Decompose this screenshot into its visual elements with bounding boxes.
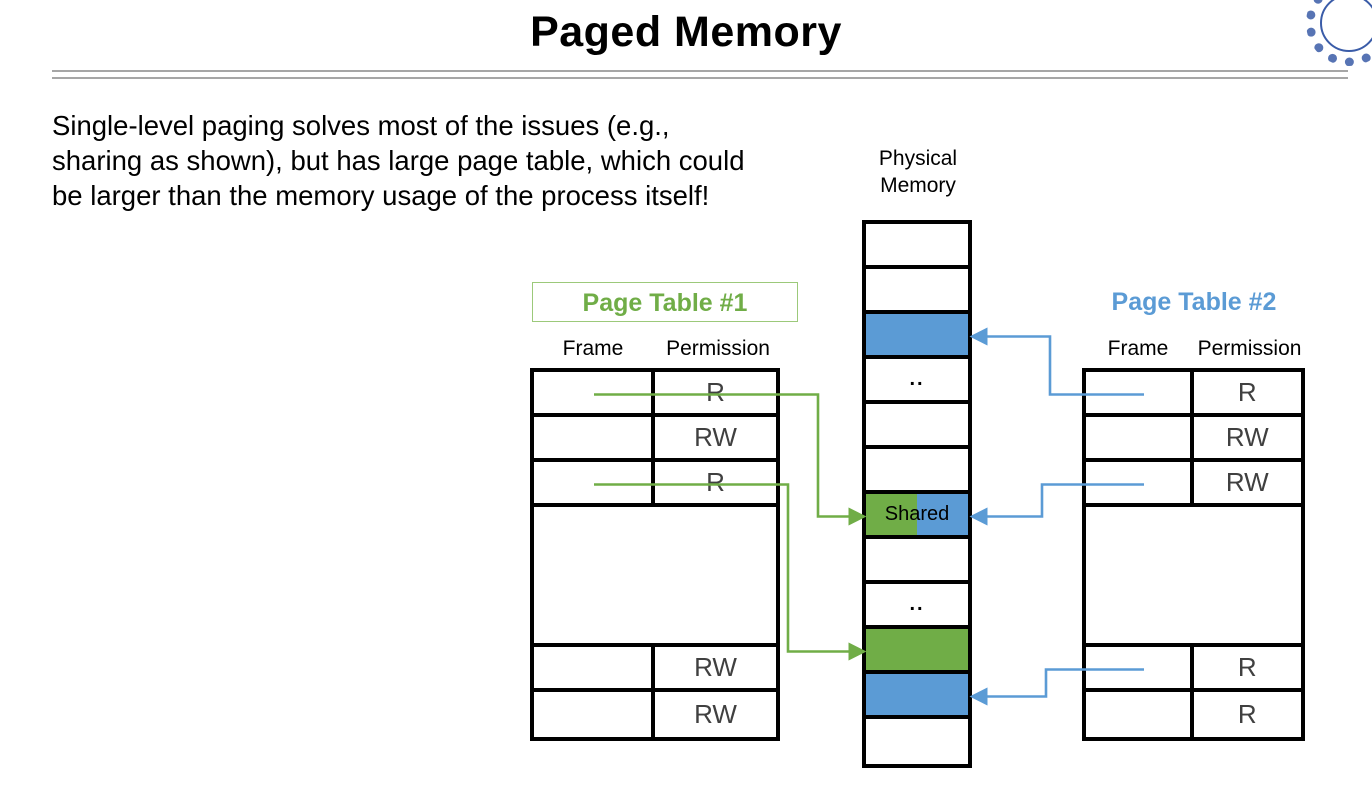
table-row: RW <box>534 692 776 737</box>
page-table-2-row-4-frame <box>1086 507 1194 643</box>
page-table-1-row-5-permission: RW <box>655 647 776 688</box>
page-table-1-col-permission: Permission <box>656 337 780 361</box>
page-table-2-row-6-frame <box>1086 692 1194 737</box>
memory-cell-4: .. <box>866 359 968 404</box>
body-paragraph: Single-level paging solves most of the i… <box>52 108 752 213</box>
page-table-2-row-1-frame <box>1086 372 1194 413</box>
page-table-2-row-2-frame <box>1086 417 1194 458</box>
page-table-2-row-3-permission: RW <box>1194 462 1302 503</box>
page-table-1-row-6-frame <box>534 692 655 737</box>
physical-memory-label: Physical Memory <box>862 145 974 199</box>
memory-cell-4-label: .. <box>909 368 924 391</box>
page-table-1: RRWRRWRW <box>530 368 780 741</box>
memory-cell-7: Shared <box>866 494 968 539</box>
table-row: RW <box>1086 462 1301 507</box>
memory-cell-6 <box>866 449 968 494</box>
page-table-1-row-3-frame <box>534 462 655 503</box>
page-table-2-row-5-frame <box>1086 647 1194 688</box>
physical-memory-column: ..Shared.. <box>862 220 972 768</box>
table-row <box>1086 507 1301 647</box>
page-table-1-title: Page Table #1 <box>532 282 798 322</box>
physical-memory-label-line1: Physical <box>862 145 974 172</box>
memory-cell-9-label: .. <box>909 593 924 616</box>
page-table-2-title: Page Table #2 <box>1082 282 1306 322</box>
table-row: R <box>534 462 776 507</box>
memory-cell-7-label: Shared <box>885 503 950 526</box>
title-divider <box>52 70 1348 79</box>
page-table-1-row-4-frame <box>534 507 655 643</box>
page-table-2-row-1-permission: R <box>1194 372 1302 413</box>
memory-cell-5 <box>866 404 968 449</box>
page-table-1-row-3-permission: R <box>655 462 776 503</box>
memory-cell-11 <box>866 674 968 719</box>
page-title: Paged Memory <box>0 8 1372 57</box>
page-table-2-row-6-permission: R <box>1194 692 1302 737</box>
table-row: RW <box>534 417 776 462</box>
page-table-2-row-2-permission: RW <box>1194 417 1302 458</box>
page-table-1-row-1-frame <box>534 372 655 413</box>
table-row <box>534 507 776 647</box>
page-table-1-row-2-frame <box>534 417 655 458</box>
page-table-1-col-frame: Frame <box>530 337 656 361</box>
memory-cell-9: .. <box>866 584 968 629</box>
table-row: R <box>534 372 776 417</box>
page-table-2-row-5-permission: R <box>1194 647 1302 688</box>
page-table-2-col-frame: Frame <box>1082 337 1194 361</box>
page-table-2-row-3-frame <box>1086 462 1194 503</box>
physical-memory-label-line2: Memory <box>862 172 974 199</box>
page-table-1-row-6-permission: RW <box>655 692 776 737</box>
memory-cell-3 <box>866 314 968 359</box>
table-row: R <box>1086 647 1301 692</box>
memory-cell-12 <box>866 719 968 764</box>
page-table-2-header: Frame Permission <box>1082 337 1305 361</box>
memory-cell-2 <box>866 269 968 314</box>
memory-cell-10 <box>866 629 968 674</box>
memory-cell-1 <box>866 224 968 269</box>
page-table-1-header: Frame Permission <box>530 337 780 361</box>
page-table-2: RRWRWRR <box>1082 368 1305 741</box>
page-table-1-row-2-permission: RW <box>655 417 776 458</box>
table-row: RW <box>534 647 776 692</box>
page-table-1-row-5-frame <box>534 647 655 688</box>
table-row: R <box>1086 692 1301 737</box>
slide: Paged Memory Single-level paging solves … <box>0 0 1372 790</box>
table-row: RW <box>1086 417 1301 462</box>
page-table-1-row-1-permission: R <box>655 372 776 413</box>
memory-cell-8 <box>866 539 968 584</box>
table-row: R <box>1086 372 1301 417</box>
page-table-2-col-permission: Permission <box>1194 337 1305 361</box>
